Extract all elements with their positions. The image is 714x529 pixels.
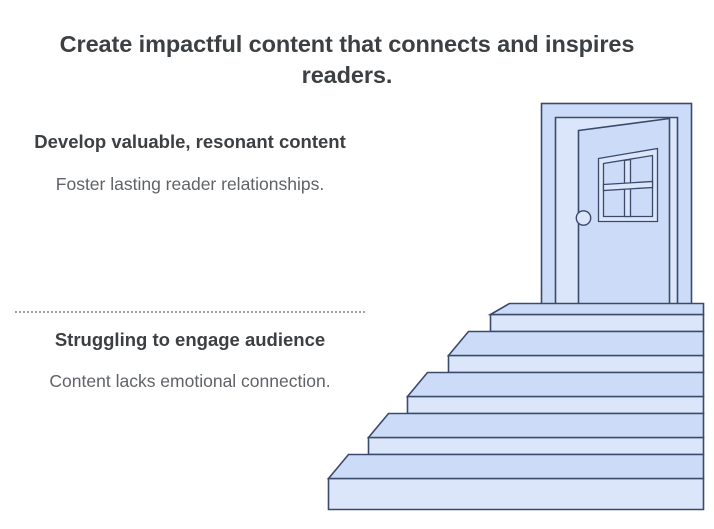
text-block-positive: Develop valuable, resonant content Foste… [14,130,366,197]
staircase-step-2 [369,414,704,455]
door-window [599,149,658,222]
block-heading-positive: Develop valuable, resonant content [14,130,366,155]
door-knob [576,211,590,225]
door-frame [542,104,692,314]
staircase-step-1 [329,455,704,510]
block-body-positive: Foster lasting reader relationships. [14,172,366,197]
staircase [329,304,704,510]
door-panel [579,119,670,314]
text-block-problem: Struggling to engage audience Content la… [14,328,366,394]
staircase-step-3 [408,373,704,414]
dotted-divider [15,311,365,313]
block-body-problem: Content lacks emotional connection. [14,369,366,394]
page-title: Create impactful content that connects a… [40,29,654,91]
staircase-step-4 [449,332,704,373]
slide-canvas: Create impactful content that connects a… [0,0,714,529]
block-heading-problem: Struggling to engage audience [14,328,366,353]
staircase-step-5 [491,304,704,332]
